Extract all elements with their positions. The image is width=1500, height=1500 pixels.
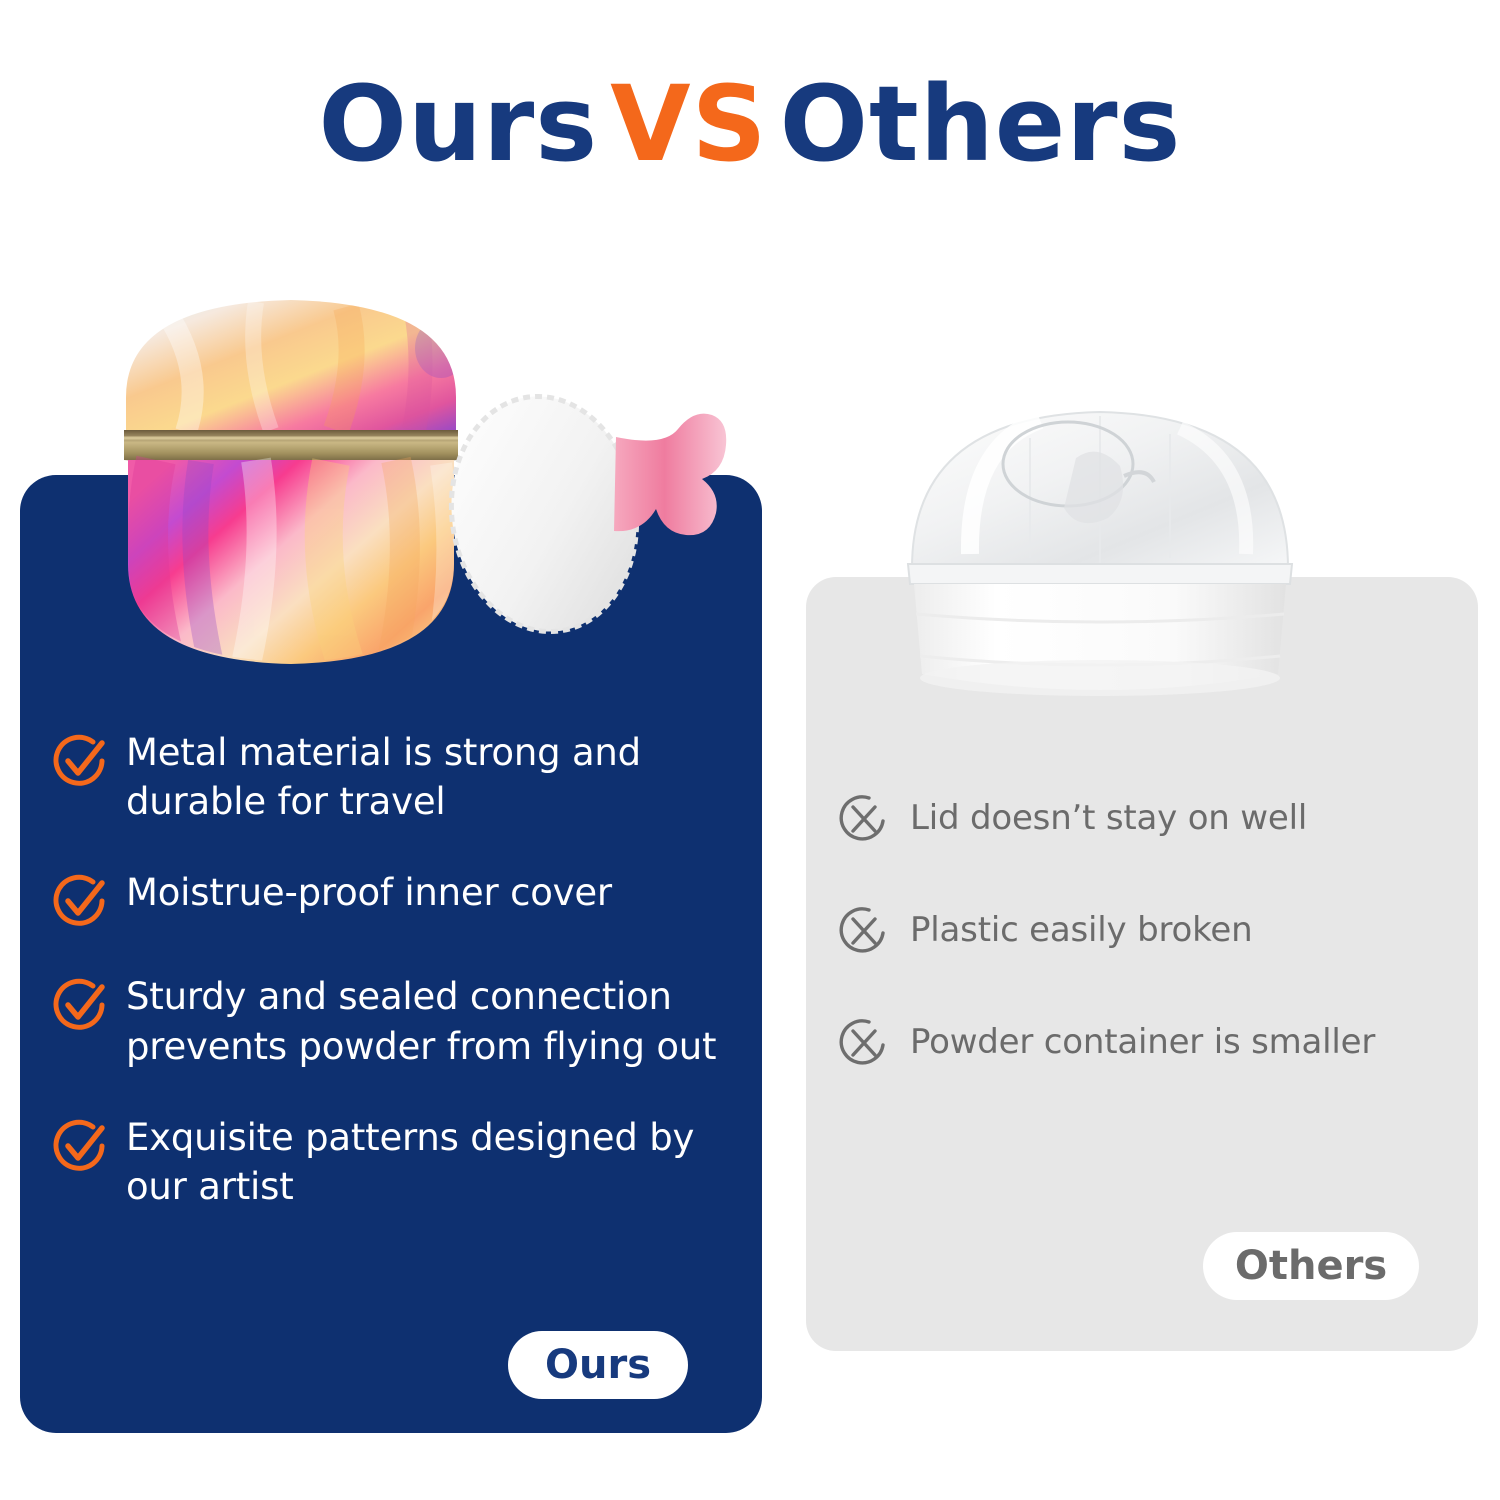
ours-feature-item: Sturdy and sealed connection prevents po… [52, 972, 752, 1070]
x-circle-icon [838, 792, 890, 844]
others-feature-item: Plastic easily broken [838, 904, 1478, 956]
title-vs-word: VS [598, 63, 779, 185]
others-badge: Others [1203, 1232, 1419, 1300]
others-feature-item: Powder container is smaller [838, 1016, 1478, 1068]
others-badge-label: Others [1235, 1243, 1387, 1289]
check-circle-icon [52, 732, 110, 790]
ours-feature-list: Metal material is strong and durable for… [52, 728, 752, 1211]
others-feature-text: Lid doesn’t stay on well [910, 796, 1307, 840]
others-product-image [880, 368, 1320, 740]
ours-feature-text: Exquisite patterns designed by our artis… [126, 1113, 738, 1211]
title-ours-word: Ours [319, 63, 599, 185]
x-circle-icon [838, 1016, 890, 1068]
ours-feature-item: Exquisite patterns designed by our artis… [52, 1113, 752, 1211]
page-title: OursVSOthers [0, 66, 1500, 182]
ours-product-image [96, 252, 736, 692]
check-circle-icon [52, 1117, 110, 1175]
ours-feature-text: Metal material is strong and durable for… [126, 728, 738, 826]
others-feature-item: Lid doesn’t stay on well [838, 792, 1478, 844]
others-feature-list: Lid doesn’t stay on well Plastic easily … [838, 792, 1478, 1068]
x-circle-icon [838, 904, 890, 956]
check-circle-icon [52, 976, 110, 1034]
plastic-powder-container-illustration [880, 368, 1320, 740]
others-feature-text: Powder container is smaller [910, 1020, 1375, 1064]
ours-badge: Ours [508, 1331, 688, 1399]
powder-jar-illustration [96, 252, 736, 692]
ours-feature-item: Metal material is strong and durable for… [52, 728, 752, 826]
ours-feature-text: Sturdy and sealed connection prevents po… [126, 972, 738, 1070]
ours-badge-label: Ours [545, 1342, 651, 1388]
title-others-word: Others [780, 63, 1182, 185]
ours-feature-item: Moistrue-proof inner cover [52, 868, 752, 930]
comparison-infographic: OursVSOthers [0, 0, 1500, 1500]
others-feature-text: Plastic easily broken [910, 908, 1252, 952]
ours-feature-text: Moistrue-proof inner cover [126, 868, 612, 917]
check-circle-icon [52, 872, 110, 930]
